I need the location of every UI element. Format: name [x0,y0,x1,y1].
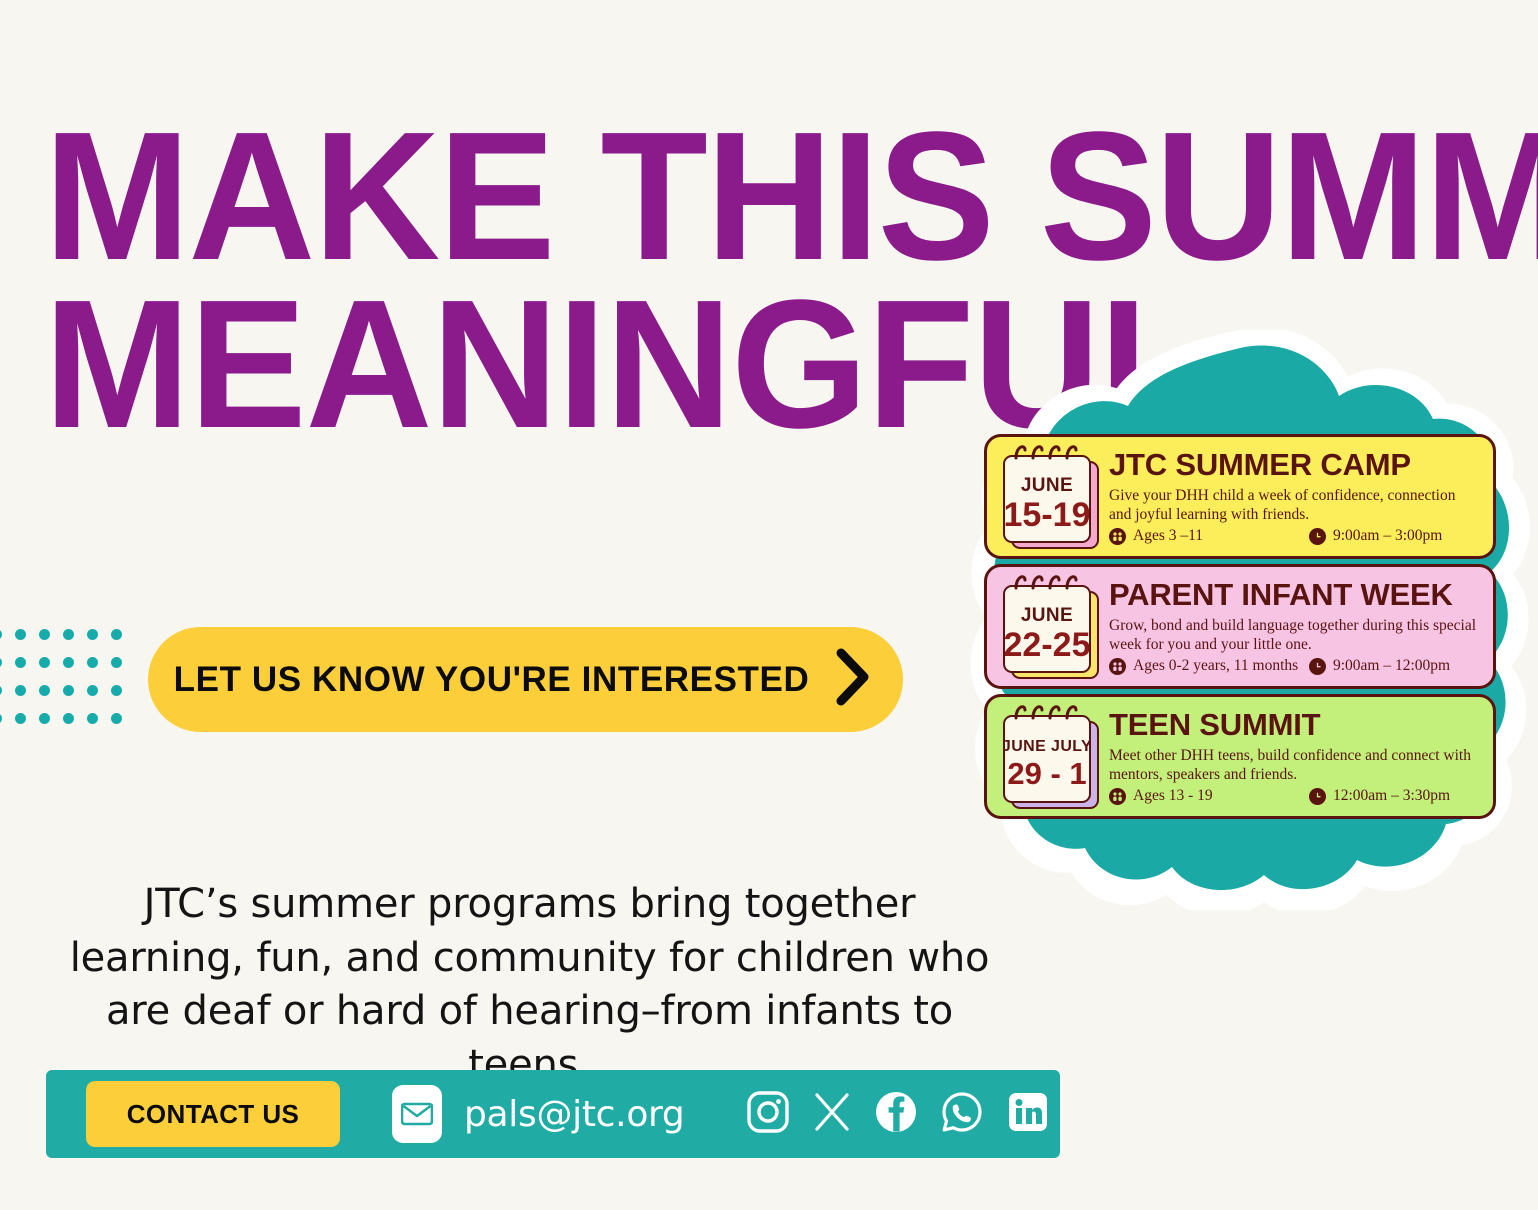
program-time-label: 9:00am – 12:00pm [1333,657,1450,675]
calendar-rings-icon [1007,702,1085,720]
program-time-label: 12:00am – 3:30pm [1333,787,1450,805]
program-card-teen-summit[interactable]: JUNE JULY 29 - 1 [984,694,1496,819]
x-twitter-icon[interactable] [812,1090,852,1139]
calendar-rings-icon [1007,572,1085,590]
dot-grid-decoration [0,620,116,720]
program-title: PARENT INFANT WEEK [1109,579,1479,610]
people-icon [1109,788,1126,805]
facebook-icon[interactable] [874,1090,918,1139]
email-address[interactable]: pals@jtc.org [464,1094,684,1135]
program-title: JTC SUMMER CAMP [1109,449,1479,480]
program-ages-label: Ages 13 - 19 [1133,787,1213,805]
program-time: 12:00am – 3:30pm [1309,787,1450,805]
program-time: 9:00am – 3:00pm [1309,527,1442,545]
calendar-days: 22-25 [1004,628,1091,662]
calendar-month: JUNE JULY [1003,739,1091,755]
program-ages-label: Ages 0-2 years, 11 months [1133,657,1298,675]
calendar-icon: JUNE 15-19 [1001,449,1097,547]
let-us-know-interested-button[interactable]: LET US KNOW YOU'RE INTERESTED [148,627,903,732]
program-card-jtc-summer-camp[interactable]: JUNE 15-19 [984,434,1496,559]
instagram-icon[interactable] [746,1090,790,1139]
program-time: 9:00am – 12:00pm [1309,657,1450,675]
clock-icon [1309,658,1326,675]
calendar-days: 29 - 1 [1007,758,1086,789]
program-ages: Ages 13 - 19 [1109,787,1309,805]
program-time-label: 9:00am – 3:00pm [1333,527,1442,545]
calendar-month: JUNE [1021,606,1073,625]
program-card-parent-infant-week[interactable]: JUNE 22-25 [984,564,1496,689]
intro-paragraph: JTC’s summer programs bring together lea… [52,878,1007,1092]
clock-icon [1309,528,1326,545]
calendar-rings-icon [1007,442,1085,460]
cta-label: LET US KNOW YOU'RE INTERESTED [174,660,810,700]
contact-us-label: CONTACT US [127,1099,300,1130]
chevron-right-icon [835,648,871,711]
calendar-icon: JUNE JULY 29 - 1 [1001,709,1097,807]
linkedin-icon[interactable] [1006,1090,1050,1139]
headline-line-1: MAKE THIS SUMMER [44,112,1311,280]
program-ages-label: Ages 3 –11 [1133,527,1203,545]
social-links [746,1090,1050,1139]
whatsapp-icon[interactable] [940,1090,984,1139]
calendar-days: 15-19 [1004,498,1091,532]
program-ages: Ages 0-2 years, 11 months [1109,657,1309,675]
envelope-icon [392,1085,442,1143]
program-description: Grow, bond and build language together d… [1109,617,1479,655]
people-icon [1109,528,1126,545]
program-title: TEEN SUMMIT [1109,709,1479,740]
program-description: Meet other DHH teens, build confidence a… [1109,747,1479,785]
program-description: Give your DHH child a week of confidence… [1109,487,1479,525]
people-icon [1109,658,1126,675]
contact-footer-bar: CONTACT US pals@jtc.org [46,1070,1060,1158]
program-ages: Ages 3 –11 [1109,527,1309,545]
program-card-list: JUNE 15-19 [984,434,1496,824]
calendar-month: JUNE [1021,476,1073,495]
clock-icon [1309,788,1326,805]
program-schedule-panel: JUNE 15-19 [940,330,1530,910]
contact-us-button[interactable]: CONTACT US [86,1081,340,1147]
promotional-poster: MAKE THIS SUMMER MEANINGFUL LET US KNOW … [0,0,1538,1210]
calendar-icon: JUNE 22-25 [1001,579,1097,677]
